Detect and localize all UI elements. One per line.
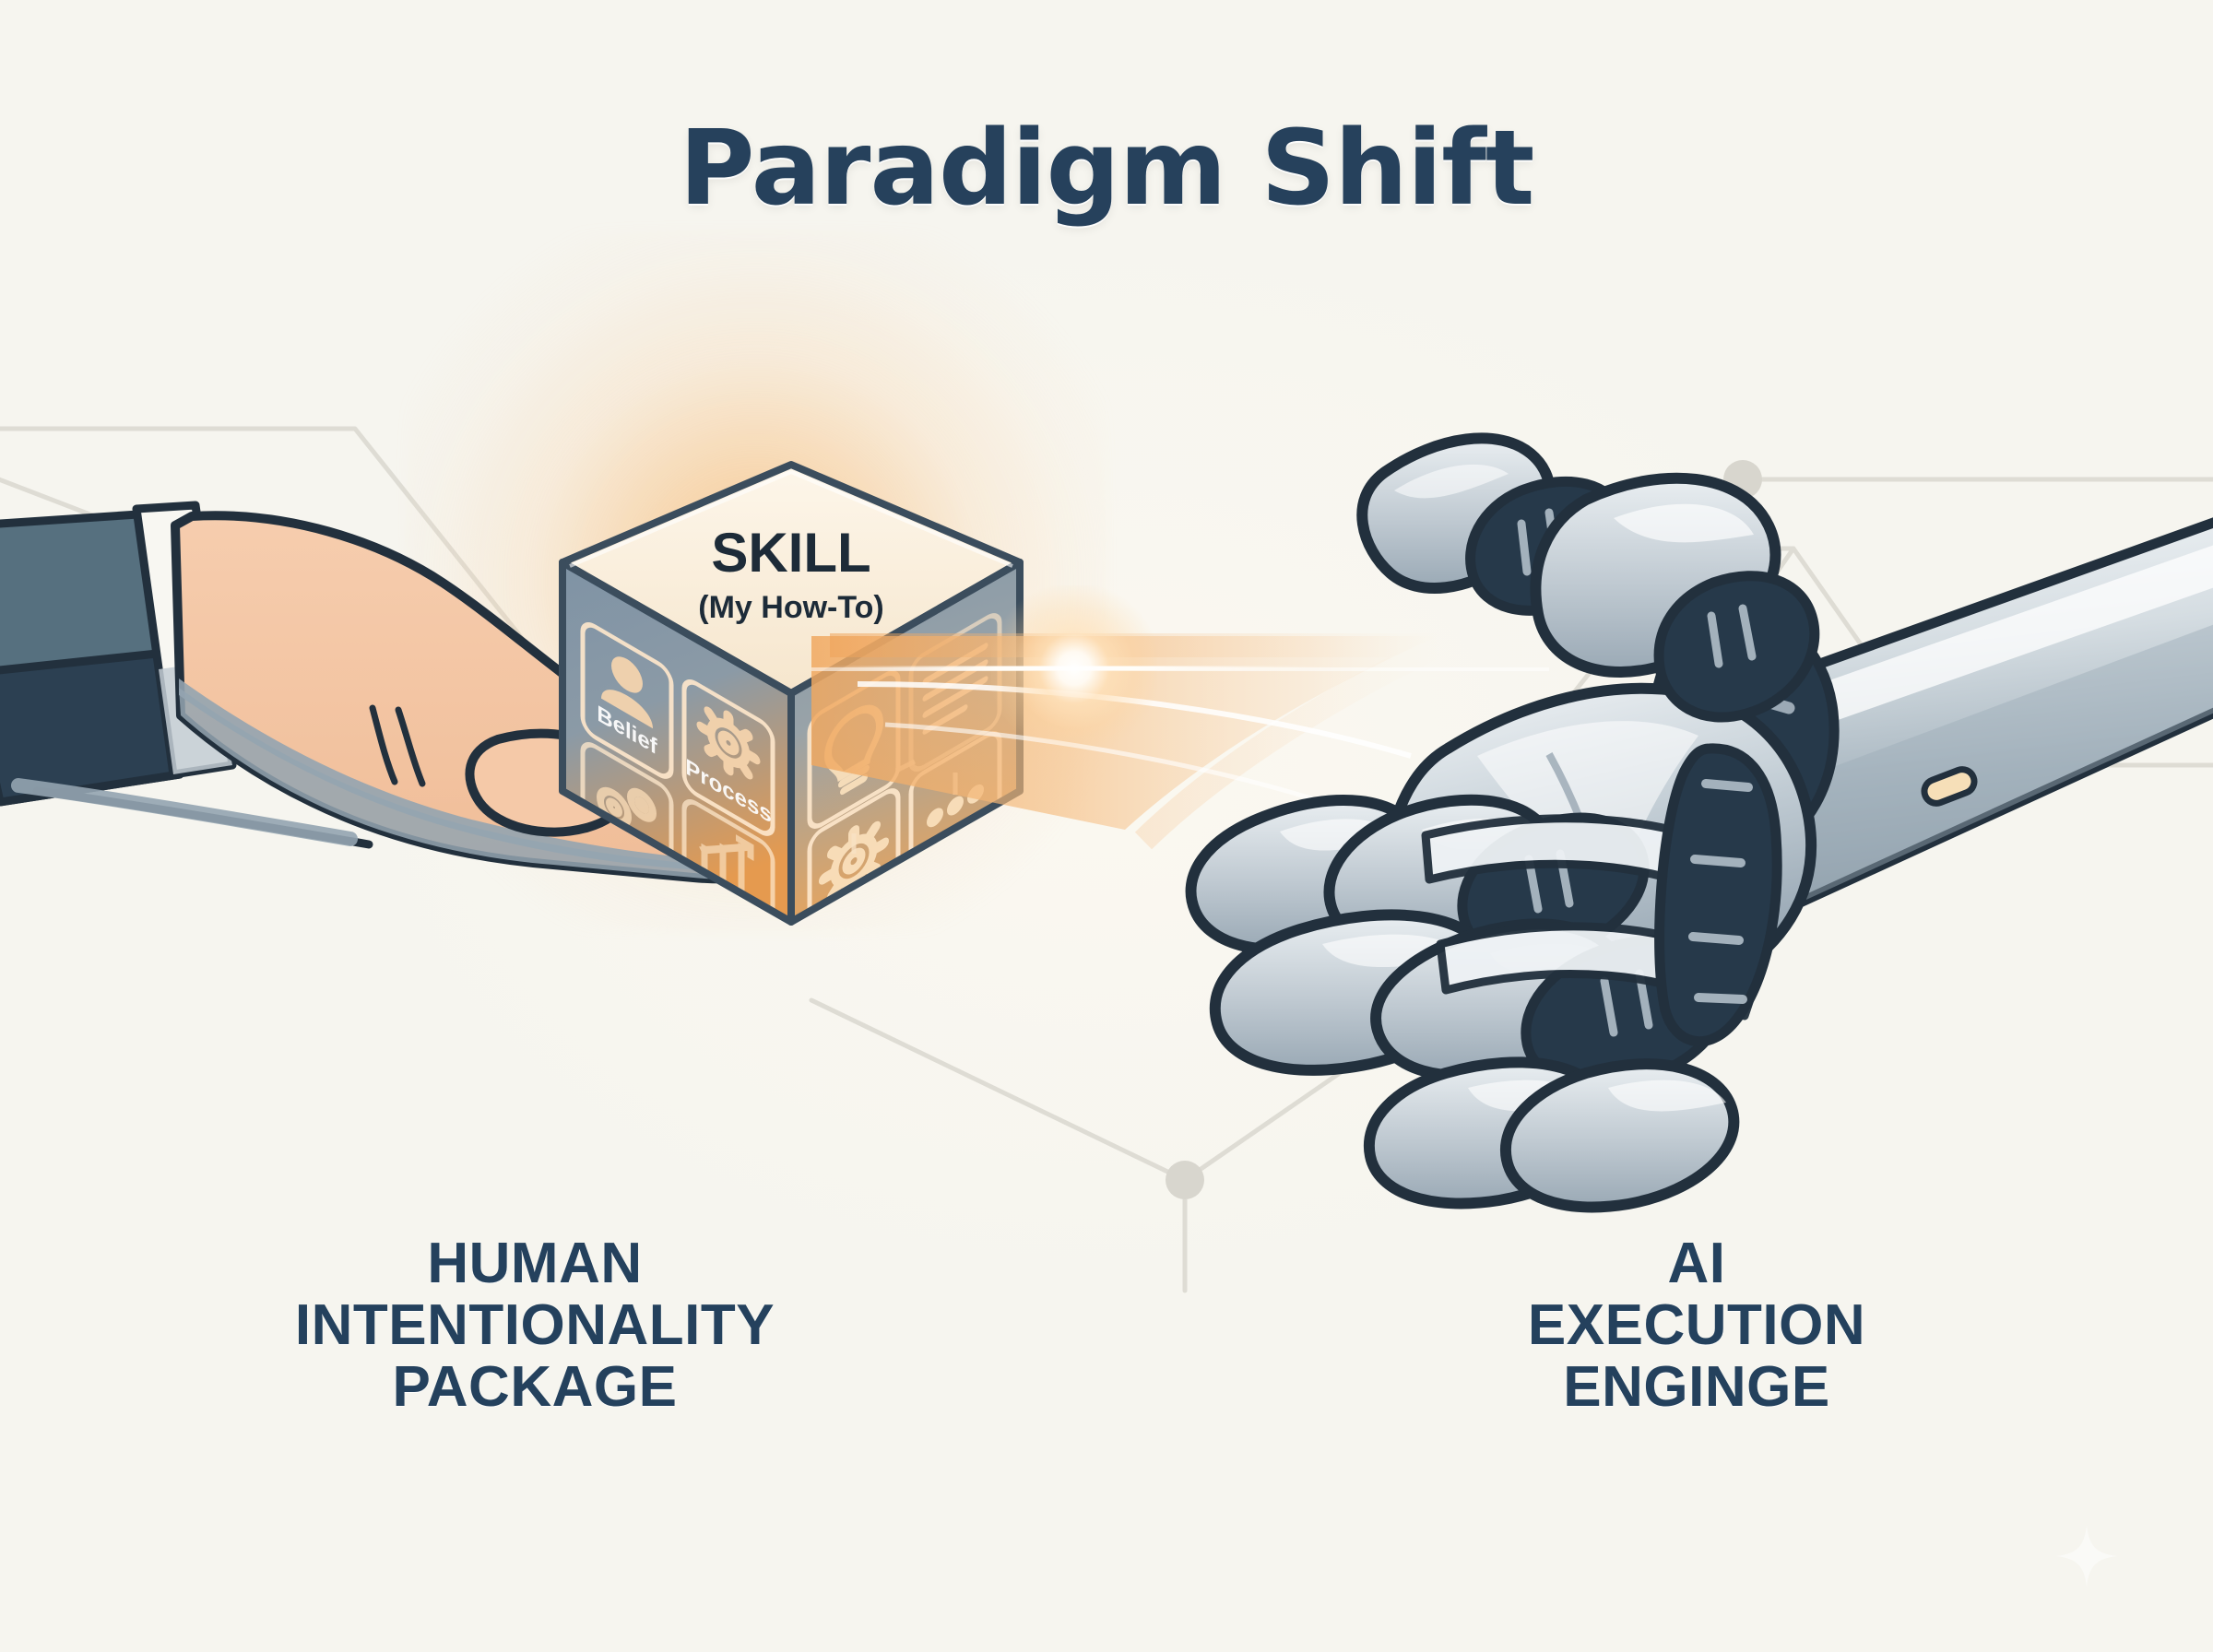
cube-top-sublabel: (My How-To)	[698, 590, 883, 625]
robot-hand	[1153, 387, 2213, 1235]
sparkle-icon	[2056, 1526, 2117, 1587]
caption-human-line1: HUMAN	[166, 1233, 904, 1295]
caption-human-line2: INTENTIONALITY	[166, 1295, 904, 1357]
robot-index-finger	[1362, 438, 1815, 717]
caption-human-line3: PACKAGE	[166, 1357, 904, 1419]
caption-ai-line2: EXECUTION	[1328, 1295, 2065, 1357]
robot-pinky-finger	[1369, 1062, 1734, 1207]
skill-cube: Belief	[553, 442, 1033, 922]
illustration-canvas: Paradigm Shift	[0, 0, 2213, 1652]
page-title: Paradigm Shift	[0, 109, 2213, 229]
caption-ai: AI EXECUTION ENGINGE	[1328, 1233, 2065, 1419]
caption-human: HUMAN INTENTIONALITY PACKAGE	[166, 1233, 904, 1419]
robot-knuckle-bar	[1660, 749, 1778, 1042]
cube-top-label: SKILL	[711, 522, 870, 584]
caption-ai-line3: ENGINGE	[1328, 1357, 2065, 1419]
caption-ai-line1: AI	[1328, 1233, 2065, 1295]
